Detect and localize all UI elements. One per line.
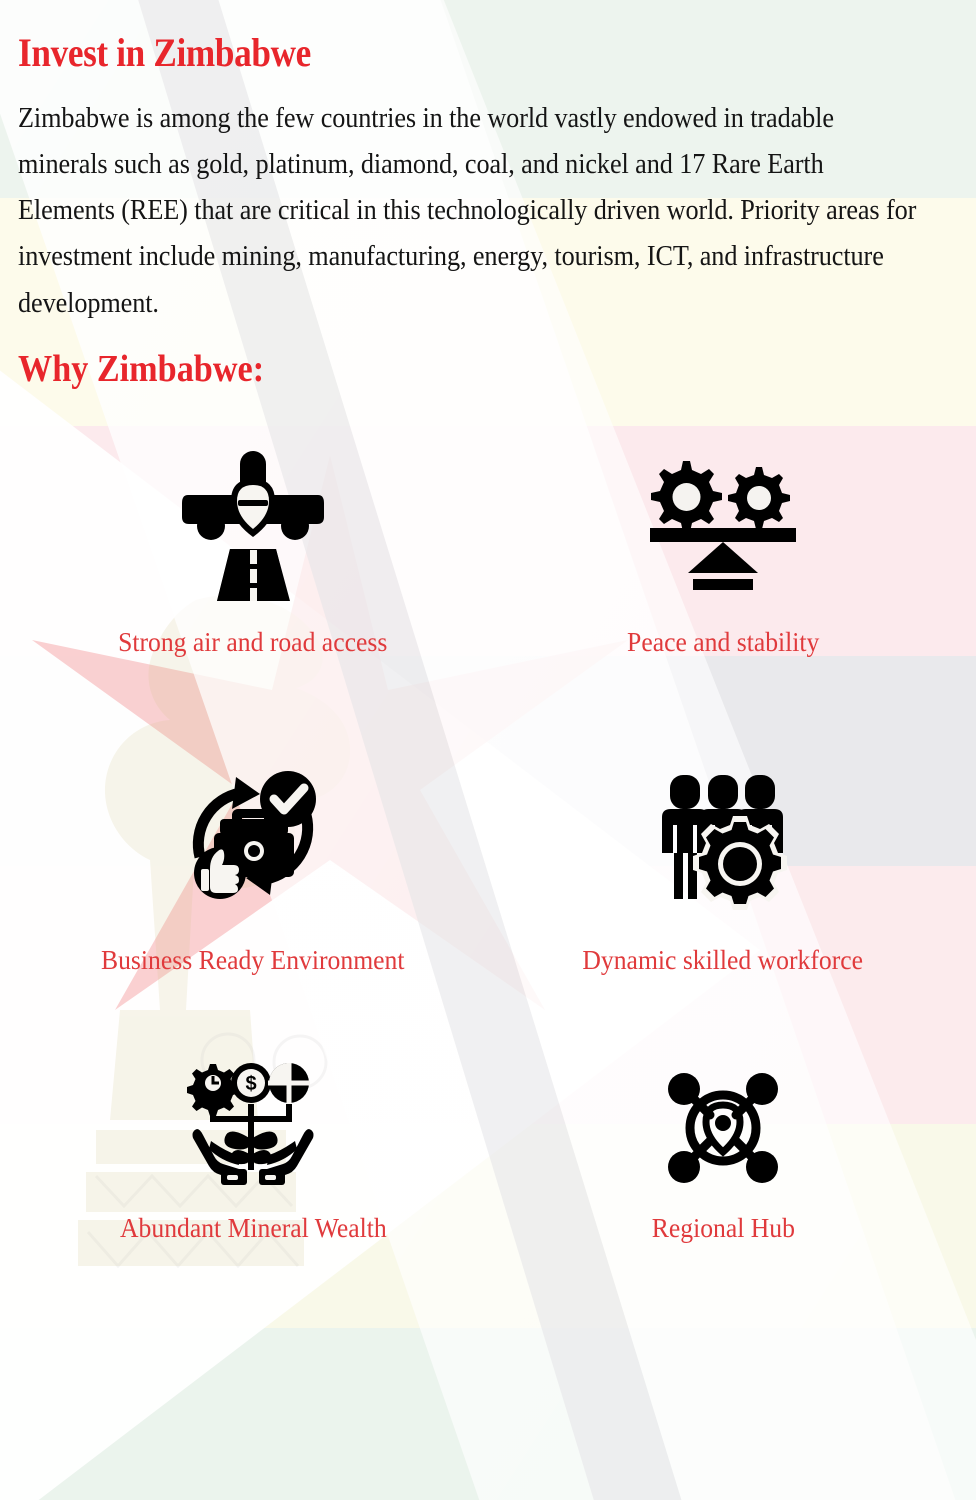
feature-mineral-wealth: $ [18,1053,488,1353]
feature-business-ready: Business Ready Environment [18,741,488,1053]
hands-sprout-icon: $ [183,1053,323,1203]
section-title: Why Zimbabwe: [18,349,864,391]
people-gear-icon [648,741,798,931]
gears-balance-icon [638,429,808,619]
feature-label: Business Ready Environment [101,945,404,976]
feature-label: Dynamic skilled workforce [583,945,864,976]
feature-air-road-access: Strong air and road access [18,429,488,741]
feature-peace-stability: Peace and stability [488,429,958,741]
feature-label: Strong air and road access [118,627,387,658]
intro-paragraph: Zimbabwe is among the few countries in t… [18,96,917,327]
page-title: Invest in Zimbabwe [18,0,845,73]
svg-text:$: $ [245,1073,256,1095]
airplane-road-icon [178,429,328,619]
feature-label: Regional Hub [651,1213,794,1244]
feature-label: Peace and stability [627,627,819,658]
network-location-hub-icon [658,1053,788,1203]
feature-grid: Strong air and road access [18,429,958,1353]
briefcase-check-thumbsup-icon [178,741,328,931]
feature-label: Abundant Mineral Wealth [120,1213,387,1244]
feature-regional-hub: Regional Hub [488,1053,958,1353]
feature-skilled-workforce: Dynamic skilled workforce [488,741,958,1053]
